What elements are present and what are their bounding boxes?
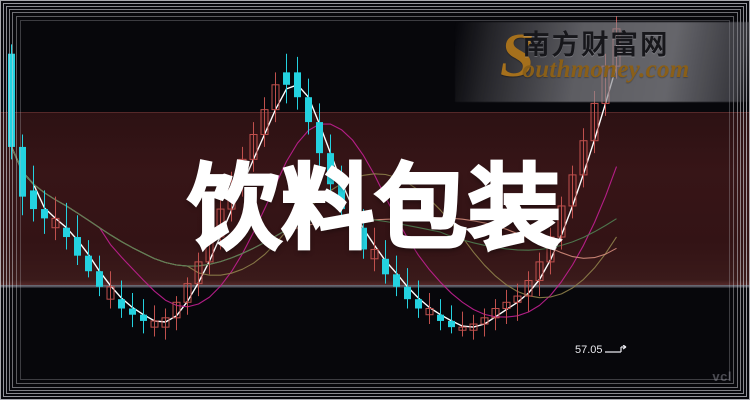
price-annotation: 57.05	[575, 344, 631, 356]
logo-text-block: 南方财富网 outhmoney.com	[522, 32, 689, 82]
page-title: 饮料包装	[0, 134, 750, 267]
corner-watermark: vcl	[712, 369, 732, 384]
arrow-right-icon	[605, 345, 631, 355]
price-value: 57.05	[575, 344, 603, 356]
logo-domain: outhmoney.com	[522, 57, 689, 82]
site-logo: S 南方财富网 outhmoney.com	[500, 32, 689, 82]
logo-chinese-name: 南方财富网	[522, 32, 689, 59]
stock-chart-banner: S 南方财富网 outhmoney.com 饮料包装 57.05 vcl	[0, 0, 750, 400]
